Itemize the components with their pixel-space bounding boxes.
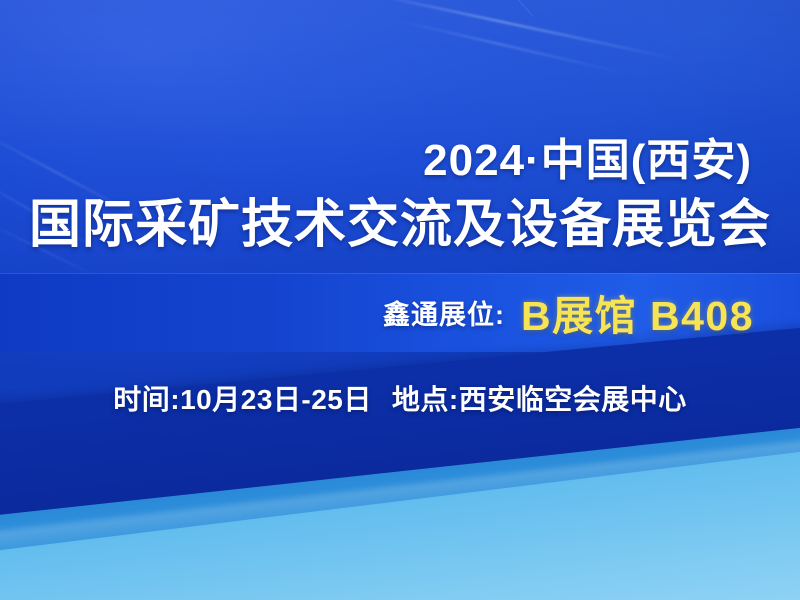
event-year-location-line: 2024·中国(西安) [423,124,752,188]
event-venue: 地点:西安临空会展中心 [392,384,687,415]
exhibition-poster: 2024·中国(西安) 国际采矿技术交流及设备展览会 鑫通展位: B展馆 B40… [0,0,800,600]
poster-content: 2024·中国(西安) 国际采矿技术交流及设备展览会 鑫通展位: B展馆 B40… [0,0,800,600]
booth-label: 鑫通展位: [383,293,505,332]
event-title-line: 国际采矿技术交流及设备展览会 [0,182,800,257]
booth-row: 鑫通展位: B展馆 B408 [0,282,754,342]
event-date: 时间:10月23日-25日 [113,384,372,415]
event-info-row: 时间:10月23日-25日地点:西安临空会展中心 [0,378,800,418]
booth-number: B展馆 B408 [521,282,754,342]
